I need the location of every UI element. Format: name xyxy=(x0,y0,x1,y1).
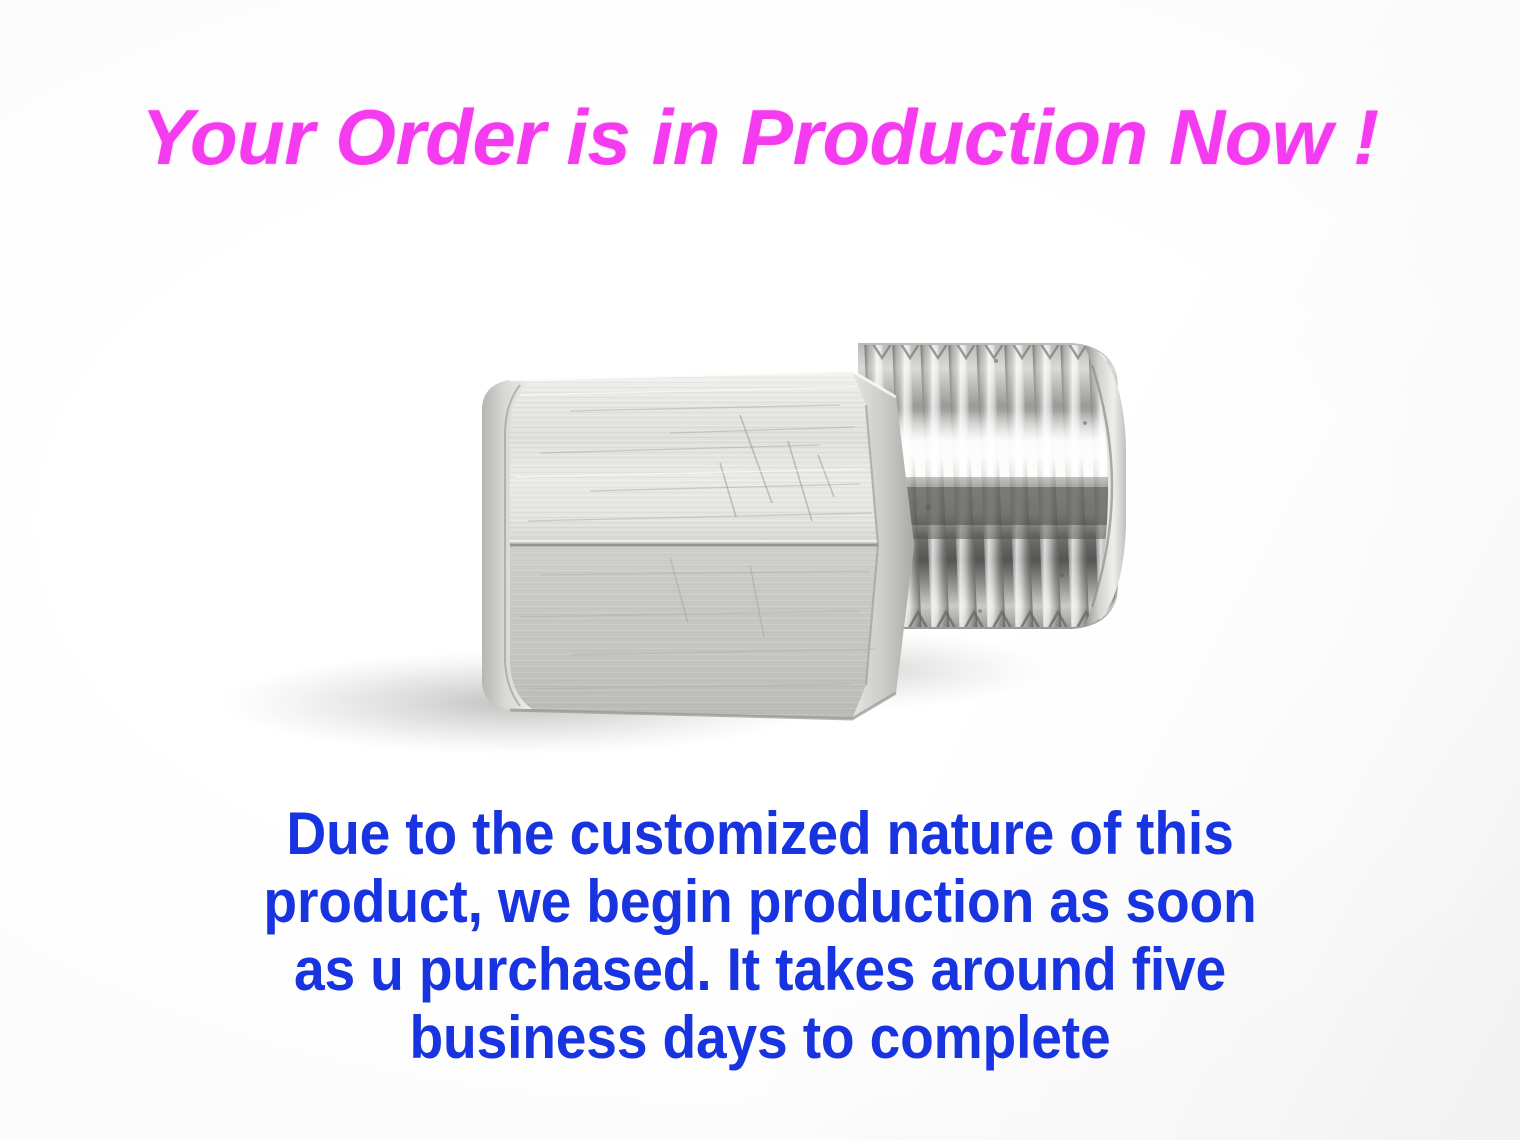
hex-adapter-fitting-illustration xyxy=(0,215,1520,785)
hex-flat-top-brush xyxy=(482,371,906,545)
product-photo xyxy=(0,215,1520,785)
notice-line-1: Due to the customized nature of this xyxy=(61,800,1459,868)
female-hex-body xyxy=(482,371,914,719)
notice-line-4: business days to complete xyxy=(61,1004,1459,1072)
promo-image-canvas: Your Order is in Production Now ! xyxy=(0,0,1520,1140)
page-title: Your Order is in Production Now ! xyxy=(0,98,1520,176)
notice-line-3: as u purchased. It takes around five xyxy=(61,936,1459,1004)
notice-line-2: product, we begin production as soon xyxy=(61,868,1459,936)
production-notice: Due to the customized nature of this pro… xyxy=(0,800,1520,1072)
thread-crests-top xyxy=(864,337,1078,343)
